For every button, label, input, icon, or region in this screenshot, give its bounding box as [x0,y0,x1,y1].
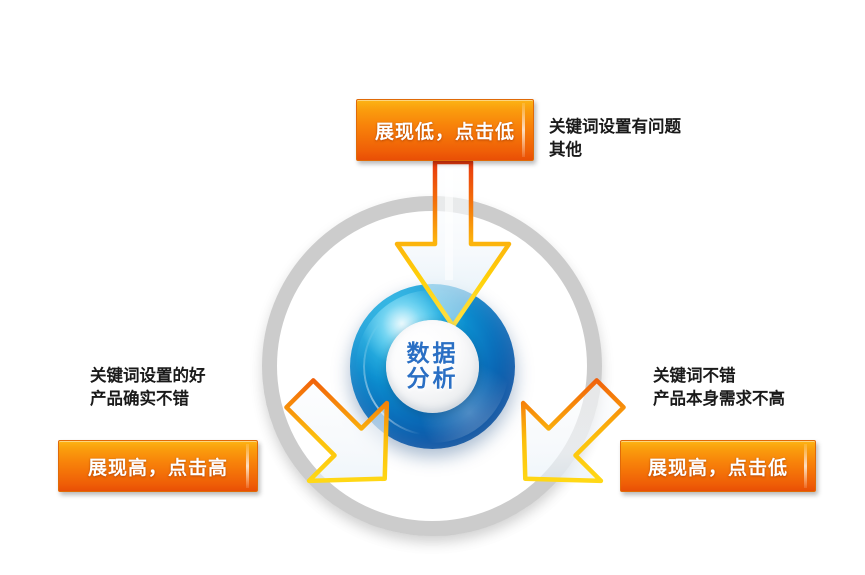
center-core-disc: 数据 分析 [386,320,479,413]
branch-caption-top-line-1: 关键词设置有问题 [549,115,681,138]
branch-button-left-label: 展现高，点击高 [88,453,228,480]
branch-caption-left-line-1: 关键词设置的好 [90,364,206,387]
branch-caption-top-line-2: 其他 [549,138,681,161]
center-label-line-1: 数据 [407,342,459,367]
branch-caption-top: 关键词设置有问题 其他 [549,115,681,162]
center-label-line-2: 分析 [407,367,459,392]
branch-button-left[interactable]: 展现高，点击高 [58,440,258,492]
branch-caption-left: 关键词设置的好 产品确实不错 [90,364,206,411]
branch-button-right[interactable]: 展现高，点击低 [620,440,816,492]
branch-caption-left-line-2: 产品确实不错 [90,387,206,410]
branch-caption-right-line-2: 产品本身需求不高 [653,387,785,410]
branch-button-right-label: 展现高，点击低 [648,453,788,480]
branch-button-top[interactable]: 展现低，点击低 [356,99,534,161]
branch-caption-right-line-1: 关键词不错 [653,364,785,387]
branch-button-top-label: 展现低，点击低 [375,117,515,144]
diagram-canvas: 数据 分析 展现低，点击低 展现高，点击高 展现高，点击低 关键词设置有问题 其… [0,0,865,575]
branch-caption-right: 关键词不错 产品本身需求不高 [653,364,785,411]
center-label: 数据 分析 [407,342,459,392]
